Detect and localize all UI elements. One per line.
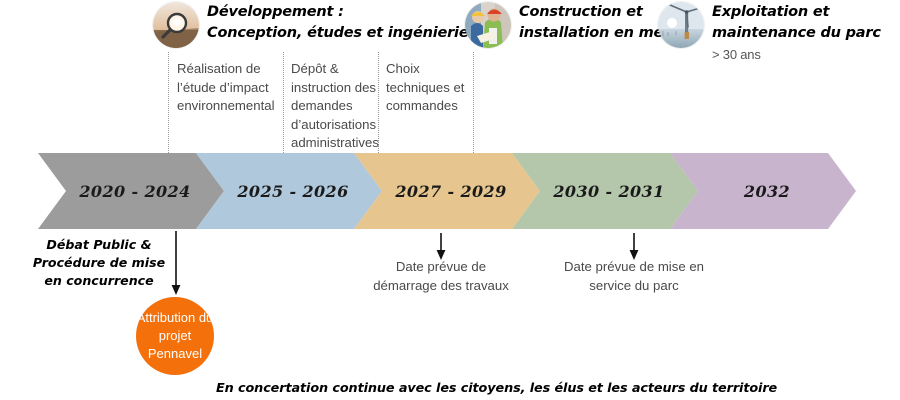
- offshore-wind-turbine-art: [658, 2, 704, 48]
- phase-subtitle-duration: > 30 ans: [712, 46, 881, 63]
- callout-debat-public: Débat Public & Procédure de mise en conc…: [28, 236, 170, 290]
- phase-title-line2: installation en mer: [519, 23, 670, 44]
- arrow-to-attribution: [167, 231, 185, 297]
- task-column-autorisations: Dépôt & instruction des demandes d’autor…: [291, 60, 377, 153]
- attribution-badge[interactable]: Attribution du projet Pennavel: [136, 297, 214, 375]
- footer-concertation-note: En concertation continue avec les citoye…: [216, 381, 777, 396]
- task-column-choix-techniques: Choix techniques et commandes: [386, 60, 472, 116]
- phase-title-exploitation: Exploitation et maintenance du parc > 30…: [712, 2, 881, 63]
- attribution-badge-label: Attribution du projet Pennavel: [136, 309, 214, 363]
- phase-header-exploitation: Exploitation et maintenance du parc > 30…: [658, 2, 881, 63]
- phase-title-line2: Conception, études et ingénierie: [207, 23, 468, 44]
- timeline-diagram: { "phases": [ { "icon": "magnifier-lands…: [0, 0, 900, 400]
- timeline-step-label: 2020 - 2024: [79, 182, 190, 201]
- offshore-wind-turbine-icon: [658, 2, 704, 48]
- arrow-to-mise-en-service: [625, 233, 643, 261]
- construction-workers-art: [465, 2, 511, 48]
- timeline-step-2020-2024[interactable]: 2020 - 2024: [38, 153, 224, 229]
- column-divider-2: [283, 52, 284, 153]
- timeline-step-label: 2025 - 2026: [237, 182, 348, 201]
- phase-header-developpement: Développement : Conception, études et in…: [153, 2, 468, 48]
- column-divider-4: [473, 52, 474, 153]
- timeline-step-label: 2027 - 2029: [395, 182, 506, 201]
- task-column-etude-impact: Réalisation de l’étude d’impact environn…: [177, 60, 281, 116]
- timeline-step-label: 2030 - 2031: [553, 182, 664, 201]
- phase-title-construction: Construction et installation en mer: [519, 2, 670, 44]
- construction-workers-icon: [465, 2, 511, 48]
- callout-demarrage-travaux: Date prévue de démarrage des travaux: [370, 258, 512, 295]
- timeline-step-label: 2032: [744, 182, 790, 201]
- phase-header-construction: Construction et installation en mer: [465, 2, 670, 48]
- phase-title-line2: maintenance du parc: [712, 23, 881, 44]
- phase-title-line1: Développement :: [207, 2, 468, 23]
- magnifier-landscape-icon: [153, 2, 199, 48]
- arrow-to-travaux: [432, 233, 450, 261]
- phase-title-line1: Exploitation et: [712, 2, 881, 23]
- callout-mise-en-service: Date prévue de mise en service du parc: [558, 258, 710, 295]
- column-divider-1: [168, 52, 169, 153]
- magnifier-landscape-art: [153, 2, 199, 48]
- phase-title-line1: Construction et: [519, 2, 670, 23]
- phase-title-developpement: Développement : Conception, études et in…: [207, 2, 468, 44]
